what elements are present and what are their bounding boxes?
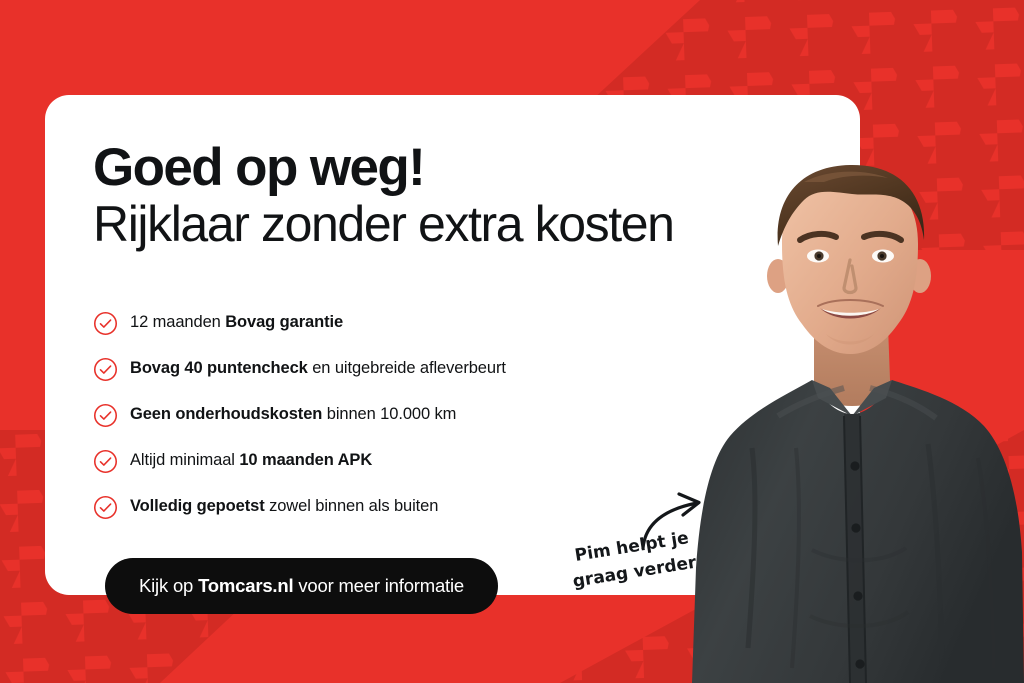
list-item: 12 maanden Bovag garantie (93, 300, 793, 346)
cta-post: voor meer informatie (293, 575, 464, 596)
cta-button[interactable]: Kijk op Tomcars.nl voor meer informatie (105, 558, 498, 614)
headline-primary: Goed op weg! (93, 140, 793, 195)
check-circle-icon (93, 449, 118, 474)
text-bold: 10 maanden APK (239, 451, 372, 469)
list-item-label: Bovag 40 puntencheck en uitgebreide afle… (130, 359, 506, 379)
cta-pre: Kijk op (139, 575, 198, 596)
text-post: en uitgebreide afleverbeurt (308, 359, 506, 377)
list-item: Geen onderhoudskosten binnen 10.000 km (93, 392, 793, 438)
text-bold: Bovag garantie (225, 313, 343, 331)
text-post: zowel binnen als buiten (265, 497, 439, 515)
text-bold: Geen onderhoudskosten (130, 405, 322, 423)
promo-banner: Goed op weg! Rijklaar zonder extra koste… (0, 0, 1024, 683)
text-pre: 12 maanden (130, 313, 225, 331)
list-item-label: Volledig gepoetst zowel binnen als buite… (130, 497, 438, 517)
list-item: Bovag 40 puntencheck en uitgebreide afle… (93, 346, 793, 392)
headline-secondary: Rijklaar zonder extra kosten (93, 197, 793, 252)
portrait-photo (692, 148, 1024, 683)
list-item-label: 12 maanden Bovag garantie (130, 313, 343, 333)
text-post: binnen 10.000 km (322, 405, 456, 423)
text-pre: Altijd minimaal (130, 451, 239, 469)
list-item-label: Altijd minimaal 10 maanden APK (130, 451, 372, 471)
list-item: Altijd minimaal 10 maanden APK (93, 438, 793, 484)
list-item-label: Geen onderhoudskosten binnen 10.000 km (130, 405, 456, 425)
check-circle-icon (93, 311, 118, 336)
cta-brand: Tomcars.nl (198, 575, 293, 596)
check-circle-icon (93, 403, 118, 428)
text-bold: Bovag 40 puntencheck (130, 359, 308, 377)
headline-block: Goed op weg! Rijklaar zonder extra koste… (93, 140, 793, 252)
check-circle-icon (93, 495, 118, 520)
cta-label: Kijk op Tomcars.nl voor meer informatie (139, 575, 464, 597)
check-circle-icon (93, 357, 118, 382)
text-bold: Volledig gepoetst (130, 497, 265, 515)
